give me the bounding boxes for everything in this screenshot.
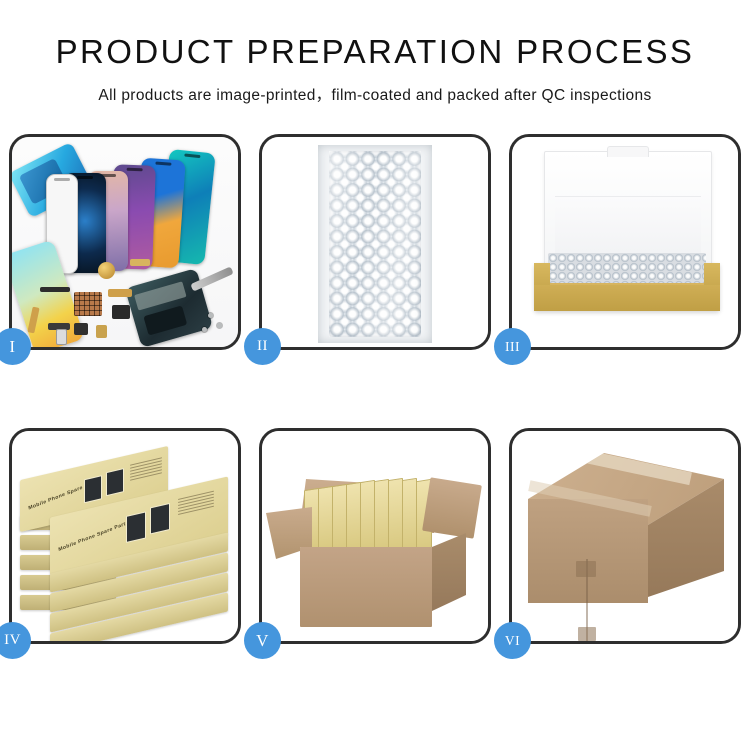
speaker-mesh-icon [74,292,102,316]
step-badge-2: II [244,328,281,365]
step-panel-2: II [259,134,491,350]
packed-box [402,478,417,554]
packed-box [360,480,375,554]
kraft-tray-icon [534,263,720,311]
packed-box [346,482,361,554]
taptic-part-icon [74,323,88,335]
box-window-icon [106,468,124,496]
gold-bracket-icon [96,325,107,338]
box-window-icon [126,511,146,543]
bubble-wrapped-contents-icon [548,253,706,283]
carton-flap-tab [578,627,596,641]
process-step-grid: I II III [0,134,750,644]
page-subtitle: All products are image-printed，film-coat… [0,83,750,105]
sim-tray-icon [56,329,67,345]
box-stack-icon: Mobile Phone Spare Parts Mobile Phone Sp… [18,445,234,637]
step-panel-3: III [509,134,741,350]
page-header: PRODUCT PREPARATION PROCESS All products… [0,0,750,105]
packed-box [374,479,389,554]
step-badge-3: III [494,328,531,365]
carton-right-face [432,533,466,611]
step-panel-5: V [259,428,491,644]
product-parts-illustration [12,137,238,347]
packed-box [332,484,347,554]
page-title: PRODUCT PREPARATION PROCESS [0,34,750,70]
step-panel-4: Mobile Phone Spare Parts Mobile Phone Sp… [9,428,241,644]
carton-left-face [528,499,648,603]
packed-box [318,486,333,554]
step-panel-6: VI [509,428,741,644]
inner-box-illustration [512,137,738,347]
open-shipping-carton-icon [276,457,476,629]
tray-front-face [534,285,720,311]
phone-screen-fan-icon [46,147,236,272]
antenna-flex-icon [130,259,150,266]
step-panel-1: I [9,134,241,350]
sealed-carton-illustration [512,431,738,641]
open-carton-illustration [262,431,488,641]
packed-box [388,478,403,554]
screw-icon [202,327,207,332]
carton-interior [302,513,432,551]
screw-icon [208,313,213,318]
step-badge-4: IV [0,622,31,659]
bubble-wrap-icon [329,151,421,337]
packing-tape-icon [564,446,692,485]
stacked-boxes-illustration: Mobile Phone Spare Parts Mobile Phone Sp… [12,431,238,641]
plastic-gloss-overlay [329,151,421,337]
bubble-wrap-illustration [262,137,488,347]
carton-right-flap [422,477,482,538]
carton-flap-tab [576,561,596,577]
box-window-icon [150,503,170,535]
camera-module-icon [112,305,130,319]
box-label-front: Mobile Phone Spare Parts [58,520,129,553]
box-window-icon [84,475,102,503]
step-badge-1: I [0,328,31,365]
step-badge-5: V [244,622,281,659]
screw-icon [217,323,222,328]
lid-tab-icon [607,146,649,157]
power-flex-icon [108,289,132,297]
vibration-motor-icon [98,262,115,279]
sealed-shipping-carton-icon [528,453,724,631]
carton-front-face [300,547,432,627]
step-badge-6: VI [494,622,531,659]
earpiece-strip-icon [40,287,70,292]
